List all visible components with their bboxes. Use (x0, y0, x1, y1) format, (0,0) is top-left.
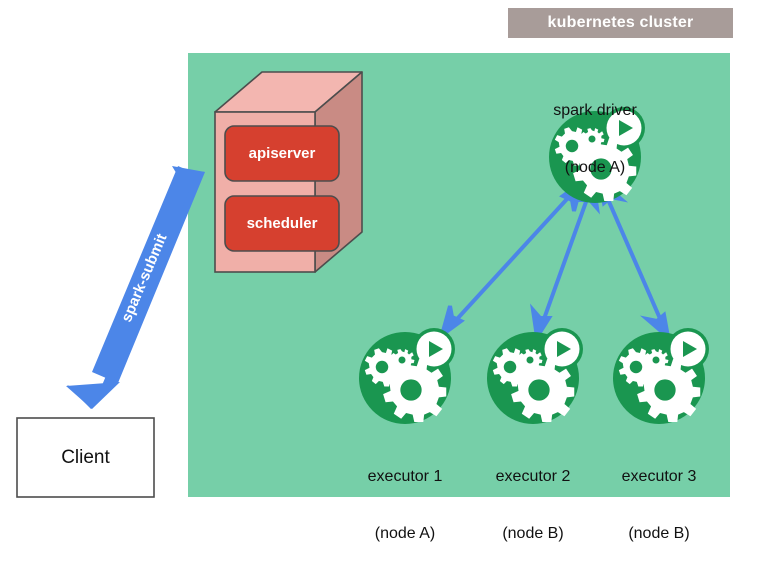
executor-3-label-line2: (node B) (579, 524, 739, 543)
executor-1-label-line2: (node A) (325, 524, 485, 543)
client-box (17, 418, 154, 497)
diagram-vector-layer (0, 0, 761, 516)
chip-scheduler (225, 196, 339, 251)
executor-2-label-line2: (node B) (453, 524, 613, 543)
cluster-badge-background (508, 8, 733, 38)
spark-submit-arrow (66, 166, 205, 409)
chip-apiserver (225, 126, 339, 181)
diagram-canvas: kubernetes cluster apiserver scheduler s… (0, 0, 761, 516)
